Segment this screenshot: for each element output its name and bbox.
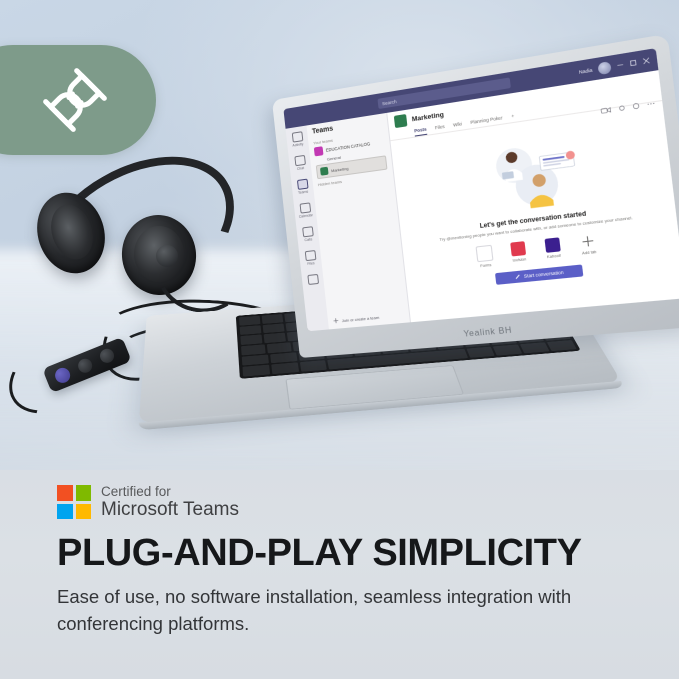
start-conversation-label: Start conversation bbox=[524, 269, 564, 278]
chat-icon bbox=[294, 155, 306, 166]
rail-item-calendar[interactable]: Calendar bbox=[297, 202, 314, 219]
rail-item-activity[interactable]: Activity bbox=[289, 131, 306, 148]
app-kahoot[interactable]: Kahoot! bbox=[539, 237, 566, 260]
rail-label: Calls bbox=[304, 237, 312, 242]
forms-icon bbox=[475, 245, 493, 263]
meet-now-button[interactable] bbox=[601, 106, 612, 115]
teams-content-area: Marketing Posts Files Wiki Planning Poke… bbox=[387, 70, 679, 322]
page-title: PLUG-AND-PLAY SIMPLICITY bbox=[57, 532, 582, 575]
microsoft-teams-app: Search Nadia bbox=[283, 48, 679, 331]
rail-label: Teams bbox=[298, 190, 309, 195]
channel-avatar bbox=[394, 114, 408, 128]
close-icon[interactable] bbox=[642, 57, 650, 65]
rail-item-more[interactable] bbox=[304, 274, 321, 287]
certified-for-label: Certified for bbox=[101, 484, 239, 499]
rail-label: Activity bbox=[292, 142, 303, 148]
laptop-lid: Search Nadia bbox=[272, 34, 679, 358]
marketing-text-block: Certified for Microsoft Teams PLUG-AND-P… bbox=[0, 470, 679, 679]
minimize-icon[interactable] bbox=[616, 61, 624, 69]
plus-icon bbox=[333, 317, 340, 324]
add-tab-button[interactable]: + bbox=[511, 113, 515, 122]
plus-icon bbox=[580, 233, 597, 249]
logo-square-green bbox=[76, 485, 92, 501]
pencil-icon bbox=[514, 273, 521, 280]
product-marketing-image: Search Nadia bbox=[0, 0, 679, 679]
rail-item-calls[interactable]: Calls bbox=[299, 226, 316, 243]
rail-label: Calendar bbox=[299, 213, 313, 219]
join-team-label: Join or create a team bbox=[341, 314, 379, 322]
ellipsis-icon bbox=[307, 274, 319, 285]
channel-name: Marketing bbox=[331, 165, 349, 172]
rail-item-chat[interactable]: Chat bbox=[292, 155, 309, 172]
join-or-create-team-button[interactable]: Join or create a team bbox=[333, 314, 380, 324]
bell-icon bbox=[291, 131, 303, 142]
rail-item-teams[interactable]: Teams bbox=[294, 178, 311, 195]
tab-wiki[interactable]: Wiki bbox=[453, 121, 463, 131]
logo-square-yellow bbox=[76, 504, 92, 520]
info-icon[interactable] bbox=[632, 102, 640, 111]
kahoot-icon bbox=[544, 237, 560, 253]
user-name: Nadia bbox=[579, 67, 593, 75]
rail-label: Chat bbox=[297, 166, 305, 171]
laptop-screen: Search Nadia bbox=[283, 48, 679, 331]
tab-files[interactable]: Files bbox=[435, 124, 446, 134]
settings-icon[interactable] bbox=[618, 104, 626, 113]
certification-badge: Certified for Microsoft Teams bbox=[57, 484, 239, 520]
video-camera-icon bbox=[601, 106, 612, 114]
app-forms[interactable]: Forms bbox=[472, 244, 498, 269]
files-icon bbox=[304, 250, 316, 261]
invision-icon bbox=[510, 241, 526, 256]
microsoft-logo bbox=[57, 485, 91, 519]
page-subtitle: Ease of use, no software installation, s… bbox=[57, 583, 617, 637]
product-photo-scene: Search Nadia bbox=[0, 0, 679, 470]
teams-icon bbox=[296, 179, 308, 190]
calendar-icon bbox=[299, 202, 311, 213]
start-conversation-button[interactable]: Start conversation bbox=[495, 264, 583, 284]
maximize-icon[interactable] bbox=[629, 59, 637, 67]
microsoft-teams-label: Microsoft Teams bbox=[101, 499, 239, 520]
logo-square-red bbox=[57, 485, 73, 501]
rail-label: Files bbox=[307, 261, 315, 266]
rail-item-files[interactable]: Files bbox=[302, 250, 319, 267]
phone-icon bbox=[302, 226, 314, 237]
conversation-illustration bbox=[466, 131, 590, 218]
avatar[interactable] bbox=[597, 61, 611, 75]
certification-text: Certified for Microsoft Teams bbox=[101, 484, 239, 520]
app-invision[interactable]: Invision bbox=[505, 240, 532, 263]
team-avatar bbox=[320, 167, 329, 176]
more-options-icon[interactable] bbox=[646, 100, 655, 109]
laptop: Search Nadia bbox=[0, 0, 679, 470]
team-avatar bbox=[314, 146, 324, 156]
logo-square-blue bbox=[57, 504, 73, 520]
app-add-tab[interactable]: Add tab bbox=[574, 233, 602, 256]
